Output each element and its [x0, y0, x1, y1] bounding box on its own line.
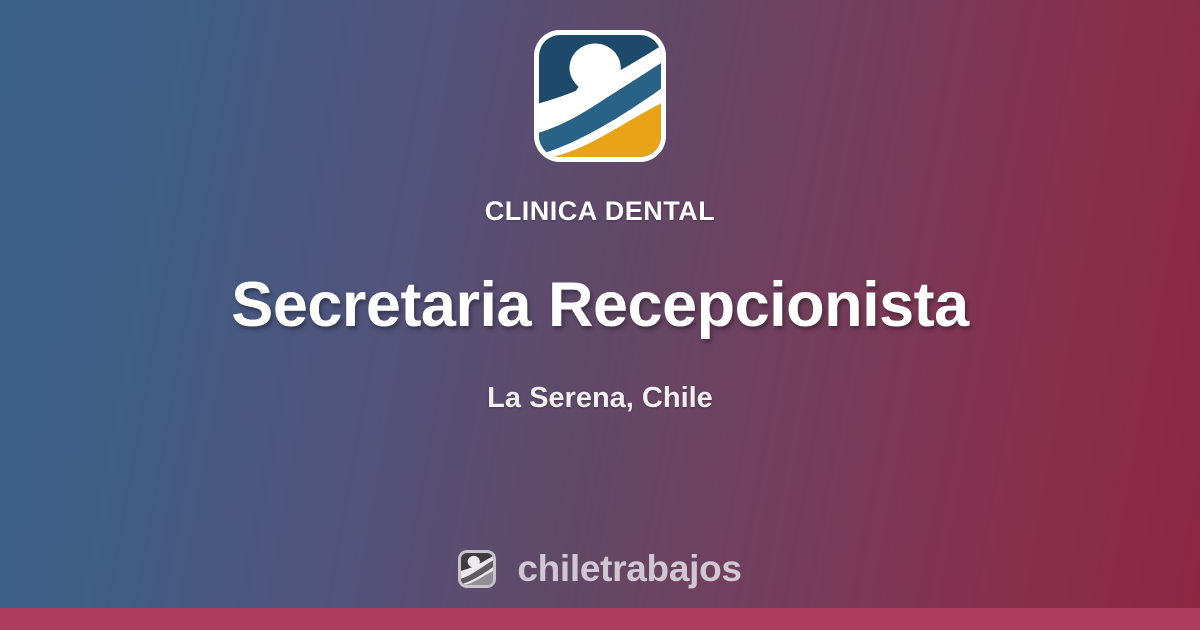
- job-location: La Serena, Chile: [487, 382, 713, 415]
- card-content: CLINICA DENTAL Secretaria Recepcionista …: [0, 0, 1200, 608]
- company-logo-frame: [534, 30, 666, 162]
- chiletrabajos-logo-artwork: [461, 553, 493, 585]
- job-title: Secretaria Recepcionista: [231, 272, 968, 338]
- clinica-dental-logo-icon: [539, 35, 661, 157]
- site-branding: chiletrabajos: [0, 548, 1200, 590]
- chiletrabajos-logo: [458, 550, 496, 588]
- chiletrabajos-logo-icon: [461, 553, 493, 585]
- bottom-accent-bar: [0, 608, 1200, 630]
- company-logo: [534, 30, 666, 162]
- company-name: CLINICA DENTAL: [485, 196, 715, 227]
- company-logo-artwork: [539, 35, 661, 157]
- job-share-card: CLINICA DENTAL Secretaria Recepcionista …: [0, 0, 1200, 630]
- site-brand-name: chiletrabajos: [517, 548, 741, 590]
